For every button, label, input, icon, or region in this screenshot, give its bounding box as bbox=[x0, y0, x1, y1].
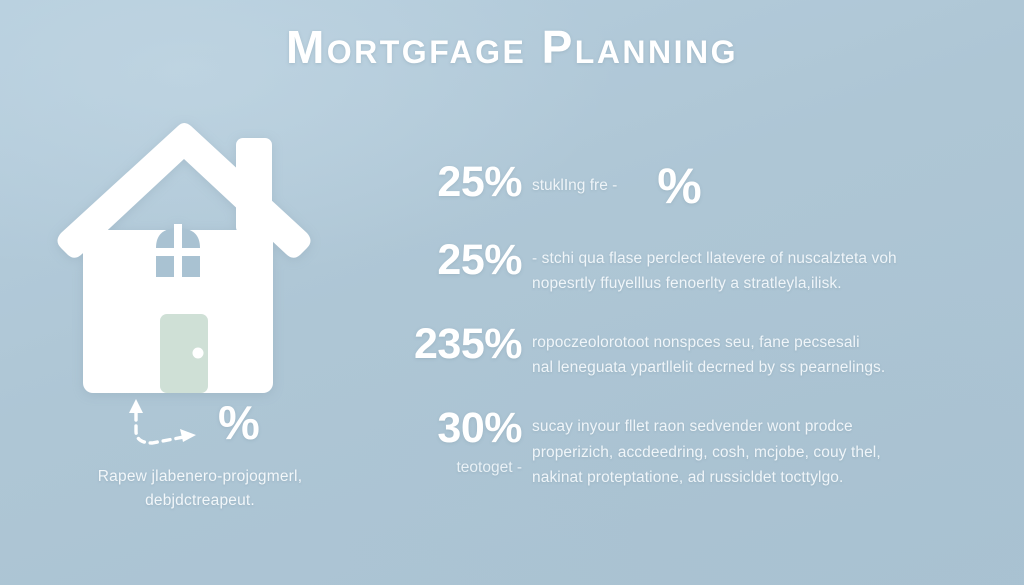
stat-body-line: ropoczeolorotoot nonspces seu, fane pecs… bbox=[532, 330, 1000, 355]
arrow-and-percent-row: % bbox=[20, 397, 380, 459]
stat-number: 30% bbox=[400, 406, 522, 451]
stat-number: 25% bbox=[400, 238, 522, 283]
stat-number: 235% bbox=[400, 322, 522, 367]
arrow-percent-symbol: % bbox=[218, 399, 260, 446]
stat-row: 30% teotoget - sucay inyour fllet raon s… bbox=[400, 406, 1000, 489]
left-caption-line-1: Rapew jlabenero-projogmerl, bbox=[20, 465, 380, 489]
stat-inline-label: stuklIng fre - bbox=[532, 177, 617, 195]
stat-row: 25% stuklIng fre - % bbox=[400, 160, 1000, 212]
stat-body-line: properizich, accdeedring, cosh, mcjobe, … bbox=[532, 440, 1000, 465]
stat-sublabel: teotoget - bbox=[400, 456, 522, 479]
stats-list: 25% stuklIng fre - % 25% - stchi qua fla… bbox=[400, 160, 1000, 490]
stat-number-cell: 25% bbox=[400, 238, 532, 283]
left-caption-line-2: debjdctreapeut. bbox=[20, 489, 380, 513]
stat-number-cell: 25% bbox=[400, 160, 532, 205]
stat-body-line: nakinat proteptatione, ad russicldet toc… bbox=[532, 465, 1000, 490]
stat-big-percent: % bbox=[657, 161, 701, 211]
stat-body: sucay inyour fllet raon sedvender wont p… bbox=[532, 406, 1000, 489]
stat-body: ropoczeolorotoot nonspces seu, fane pecs… bbox=[532, 322, 1000, 380]
page-title: Mortgfage Planning bbox=[0, 22, 1024, 73]
infographic-poster: Mortgfage Planning bbox=[0, 0, 1024, 585]
curved-dashed-arrow-icon bbox=[122, 397, 222, 455]
stat-number-cell: 235% bbox=[400, 322, 532, 367]
stat-row: 235% ropoczeolorotoot nonspces seu, fane… bbox=[400, 322, 1000, 380]
house-icon bbox=[50, 120, 350, 395]
stat-body-line: sucay inyour fllet raon sedvender wont p… bbox=[532, 414, 1000, 439]
stat-body-line: - stchi qua flase perclect llatevere of … bbox=[532, 246, 1000, 271]
stat-body: stuklIng fre - % bbox=[532, 160, 1000, 212]
stat-row: 25% - stchi qua flase perclect llatevere… bbox=[400, 238, 1000, 296]
stat-body: - stchi qua flase perclect llatevere of … bbox=[532, 238, 1000, 296]
stat-number: 25% bbox=[400, 160, 522, 205]
stat-body-line: nal leneguata ypartllelit decrned by ss … bbox=[532, 355, 1000, 380]
stat-number-cell: 30% teotoget - bbox=[400, 406, 532, 478]
left-illustration-column: % Rapew jlabenero-projogmerl, debjdctrea… bbox=[20, 120, 380, 513]
stat-body-line: nopesrtly ffuyelllus fenoerlty a stratle… bbox=[532, 271, 1000, 296]
left-caption: Rapew jlabenero-projogmerl, debjdctreape… bbox=[20, 465, 380, 513]
